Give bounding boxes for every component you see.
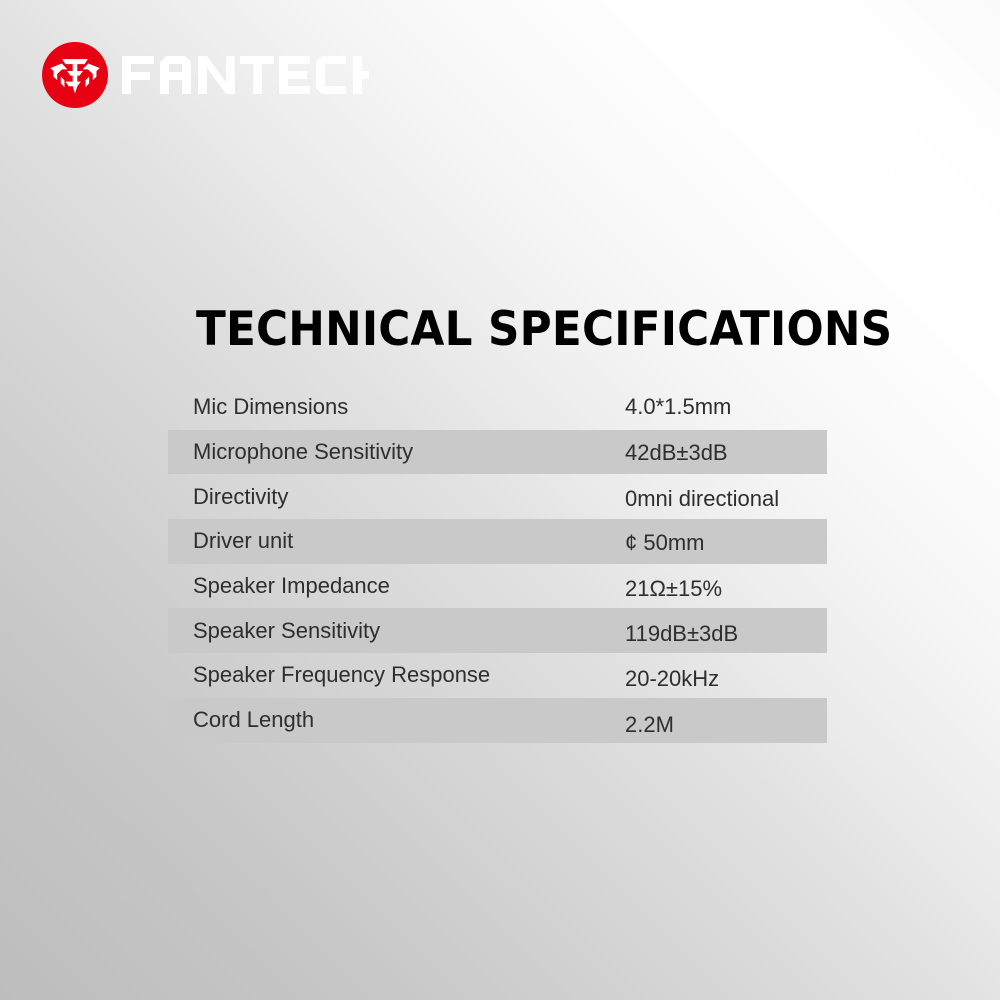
table-row: Speaker Impedance 21Ω±15%: [168, 564, 827, 609]
spec-value: 42dB±3dB: [625, 442, 728, 464]
spec-value: 4.0*1.5mm: [625, 396, 731, 418]
spec-value: 2.2M: [625, 714, 674, 736]
spec-value: 20-20kHz: [625, 668, 719, 690]
spec-value: 0mni directional: [625, 488, 779, 510]
spec-label: Driver unit: [193, 530, 293, 552]
specifications-table: Mic Dimensions 4.0*1.5mm Microphone Sens…: [168, 385, 827, 743]
table-row: Speaker Frequency Response 20-20kHz: [168, 653, 827, 698]
table-row: Directivity 0mni directional: [168, 474, 827, 519]
spec-sheet-page: TECHNICAL SPECIFICATIONS Mic Dimensions …: [0, 0, 1000, 1000]
spec-label: Speaker Frequency Response: [193, 664, 490, 686]
spec-value: 21Ω±15%: [625, 578, 722, 600]
fantech-shield-emblem-icon: [42, 42, 108, 108]
spec-label: Directivity: [193, 486, 288, 508]
table-row: Speaker Sensitivity 119dB±3dB: [168, 608, 827, 653]
table-row: Driver unit ¢ 50mm: [168, 519, 827, 564]
spec-value: ¢ 50mm: [625, 532, 704, 554]
brand-lockup: [42, 42, 369, 108]
fantech-wordmark: [122, 52, 369, 98]
spec-label: Microphone Sensitivity: [193, 441, 413, 463]
page-title: TECHNICAL SPECIFICATIONS: [196, 306, 892, 353]
spec-label: Cord Length: [193, 709, 314, 731]
spec-label: Mic Dimensions: [193, 396, 348, 418]
spec-label: Speaker Sensitivity: [193, 620, 380, 642]
table-row: Cord Length 2.2M: [168, 698, 827, 743]
spec-value: 119dB±3dB: [625, 623, 738, 645]
spec-label: Speaker Impedance: [193, 575, 390, 597]
table-row: Microphone Sensitivity 42dB±3dB: [168, 430, 827, 475]
table-row: Mic Dimensions 4.0*1.5mm: [168, 385, 827, 430]
